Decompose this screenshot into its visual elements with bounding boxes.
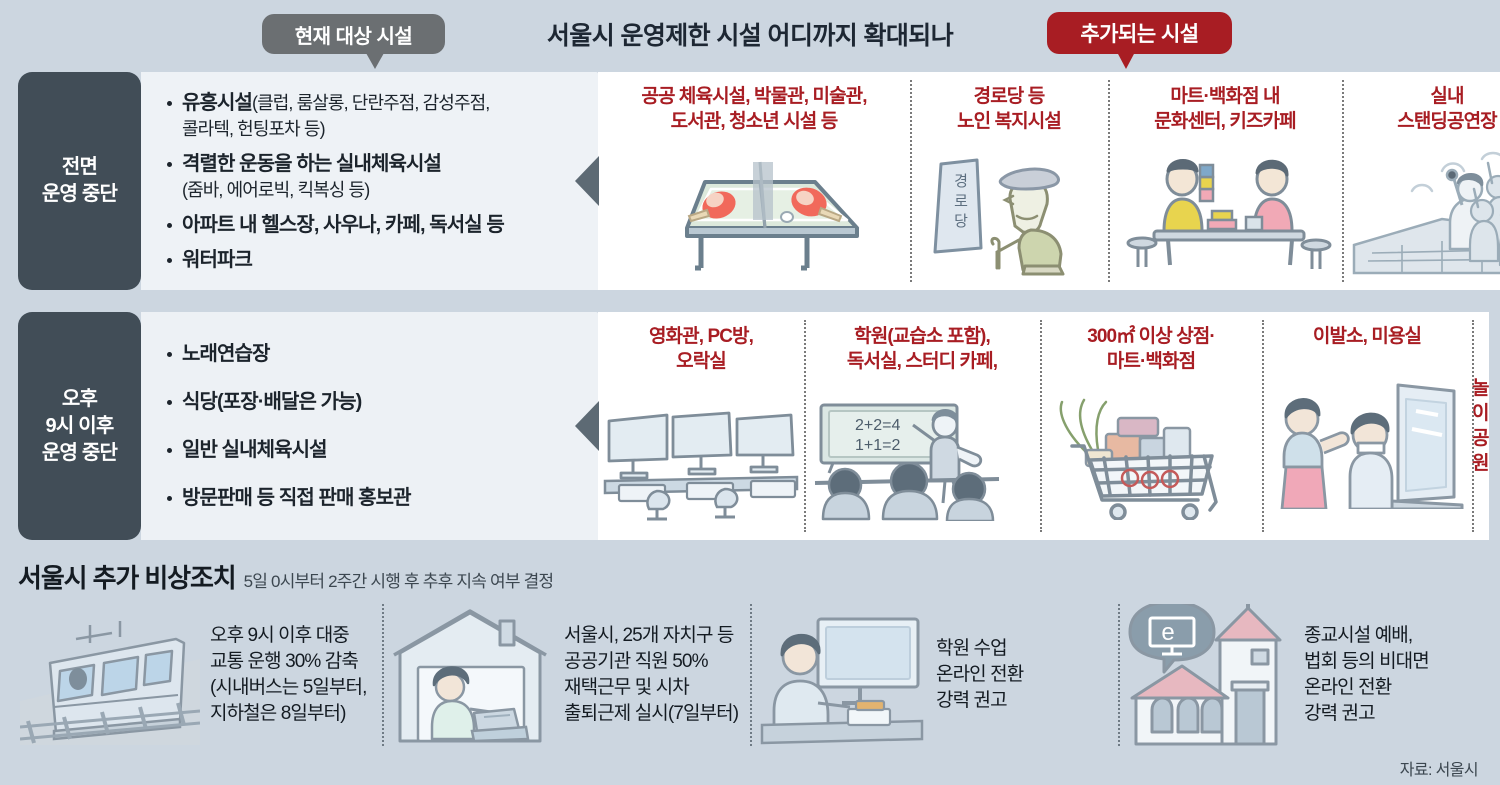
bullet-main: 노래연습장	[182, 343, 270, 365]
badge-tail-icon	[366, 53, 384, 69]
bottom-header: 서울시 추가 비상조치 5일 0시부터 2주간 시행 후 추후 지속 여부 결정	[18, 558, 553, 595]
measure-religion-online: e 종교시설 예배, 법회 등의 비대면 온라인 전환 강력 권고	[1118, 600, 1486, 750]
facility-cell-senior-center: 경로당 등 노인 복지시설 경 로 당	[910, 72, 1108, 290]
infographic-root: 현재 대상 시설 서울시 운영제한 시설 어디까지 확대되나 추가되는 시설 전…	[0, 0, 1500, 785]
blackboard-line2: 1+1=2	[855, 437, 900, 454]
measure-text: 학원 수업 온라인 전환 강력 권고	[936, 636, 1023, 715]
facility-cell-title: 300㎡ 이상 상점· 마트·백화점	[1087, 324, 1215, 374]
list-item: 방문판매 등 직접 판매 홍보관	[167, 485, 592, 511]
row-label-text: 오후 9시 이후 운영 중단	[42, 386, 117, 467]
title-bar: 현재 대상 시설 서울시 운영제한 시설 어디까지 확대되나 추가되는 시설	[0, 0, 1500, 62]
additional-measures-section: 서울시 추가 비상조치 5일 0시부터 2주간 시행 후 추후 지속 여부 결정	[0, 548, 1500, 785]
bullet-main: 유흥시설	[182, 92, 252, 114]
standing-concert-icon	[1342, 134, 1500, 290]
pc-room-icon	[598, 374, 804, 540]
list-item: 워터파크	[167, 247, 592, 273]
classroom-icon: 2+2=4 1+1=2	[804, 374, 1040, 540]
facility-cell-amusement-park: 놀이 공원	[1472, 312, 1489, 540]
facility-cell-public-sports: 공공 체육시설, 박물관, 미술관, 도서관, 청소년 시설 등	[598, 72, 910, 290]
table-tennis-icon	[598, 134, 910, 290]
facility-cell-title: 공공 체육시설, 박물관, 미술관, 도서관, 청소년 시설 등	[641, 84, 866, 134]
list-item: 식당(포장·배달은 가능)	[167, 389, 592, 415]
restriction-row-full-closure: 전면 운영 중단 유흥시설(클럽, 룸살롱, 단란주점, 감성주점, 콜라텍, …	[18, 72, 1484, 290]
bullet-main: 식당(포장·배달은 가능)	[182, 391, 361, 413]
badge-tail-icon	[1117, 52, 1135, 69]
page-title: 서울시 운영제한 시설 어디까지 확대되나	[510, 16, 990, 52]
church-bubble-text: e	[1161, 619, 1174, 646]
badge-current-label: 현재 대상 시설	[295, 20, 413, 49]
row-label-text: 전면 운영 중단	[42, 154, 117, 208]
bottom-subtitle: 5일 0시부터 2주간 시행 후 추후 지속 여부 결정	[244, 567, 554, 592]
list-item: 아파트 내 헬스장, 사우나, 카페, 독서실 등	[167, 212, 592, 238]
source-note: 자료: 서울시	[1400, 756, 1478, 780]
bullet-list-2: 노래연습장 식당(포장·배달은 가능) 일반 실내체육시설 방문판매 등 직접 …	[141, 341, 598, 511]
badge-current-facilities: 현재 대상 시설	[262, 14, 445, 54]
facility-cell-title: 놀이 공원	[1472, 376, 1489, 476]
measures-list: 오후 9시 이후 대중 교통 운행 30% 감축 (시내버스는 5일부터, 지하…	[14, 600, 1486, 750]
svg-text:로: 로	[954, 193, 968, 210]
bottom-title: 서울시 추가 비상조치	[18, 558, 236, 595]
subway-icon	[20, 605, 200, 745]
row-label-full-closure: 전면 운영 중단	[18, 72, 141, 290]
senior-center-icon: 경 로 당	[910, 134, 1108, 290]
facility-cell-standing-concert: 실내 스탠딩공연장	[1342, 72, 1500, 290]
bullet-main: 일반 실내체육시설	[182, 439, 327, 461]
measure-remote-work: 서울시, 25개 자치구 등 공공기관 직원 50% 재택근무 및 시차 출퇴근…	[382, 600, 750, 750]
restriction-row-after-9pm: 오후 9시 이후 운영 중단 노래연습장 식당(포장·배달은 가능) 일반 실내…	[18, 312, 1484, 540]
svg-text:당: 당	[954, 213, 968, 230]
badge-added-facilities: 추가되는 시설	[1047, 12, 1232, 54]
shopping-cart-icon	[1040, 374, 1262, 540]
facility-cell-title: 영화관, PC방, 오락실	[649, 324, 753, 374]
bullet-main: 방문판매 등 직접 판매 홍보관	[182, 487, 411, 509]
bullet-main: 격렬한 운동을 하는 실내체육시설	[182, 153, 441, 175]
arrow-right-icon	[575, 156, 599, 206]
hair-salon-icon	[1262, 349, 1472, 540]
list-item: 노래연습장	[167, 341, 592, 367]
bullet-list-1: 유흥시설(클럽, 룸살롱, 단란주점, 감성주점, 콜라텍, 헌팅포차 등) 격…	[141, 90, 598, 273]
home-work-icon	[388, 605, 554, 745]
facility-cell-academy: 학원(교습소 포함), 독서실, 스터디 카페, 2+2=4 1+1=2	[804, 312, 1040, 540]
church-icon: e	[1124, 604, 1294, 746]
row-label-after-9pm: 오후 9시 이후 운영 중단	[18, 312, 141, 540]
measure-public-transport: 오후 9시 이후 대중 교통 운행 30% 감축 (시내버스는 5일부터, 지하…	[14, 600, 382, 750]
facility-cell-hair-salon: 이발소, 미용실	[1262, 312, 1472, 540]
bullet-sub: (줌바, 에어로빅, 킥복싱 등)	[182, 180, 369, 200]
bullet-main: 워터파크	[182, 249, 252, 271]
measure-text: 오후 9시 이후 대중 교통 운행 30% 감축 (시내버스는 5일부터, 지하…	[210, 623, 367, 728]
measure-online-class: 학원 수업 온라인 전환 강력 권고	[750, 600, 1118, 750]
senior-sign-text: 경	[954, 173, 968, 190]
kids-cafe-icon	[1108, 134, 1342, 290]
measure-text: 종교시설 예배, 법회 등의 비대면 온라인 전환 강력 권고	[1304, 623, 1429, 728]
list-item: 유흥시설(클럽, 룸살롱, 단란주점, 감성주점, 콜라텍, 헌팅포차 등)	[167, 90, 592, 142]
row-added-facilities-2: 영화관, PC방, 오락실	[598, 312, 1489, 540]
row-current-facilities-1: 유흥시설(클럽, 룸살롱, 단란주점, 감성주점, 콜라텍, 헌팅포차 등) 격…	[141, 72, 598, 290]
facility-cell-title: 이발소, 미용실	[1313, 324, 1421, 349]
list-item: 격렬한 운동을 하는 실내체육시설(줌바, 에어로빅, 킥복싱 등)	[167, 151, 592, 203]
list-item: 일반 실내체육시설	[167, 437, 592, 463]
facility-cell-title: 경로당 등 노인 복지시설	[957, 84, 1061, 134]
row-current-facilities-2: 노래연습장 식당(포장·배달은 가능) 일반 실내체육시설 방문판매 등 직접 …	[141, 312, 598, 540]
facility-cell-pc-room: 영화관, PC방, 오락실	[598, 312, 804, 540]
facility-cell-kids-cafe: 마트·백화점 내 문화센터, 키즈카페	[1108, 72, 1342, 290]
blackboard-line1: 2+2=4	[855, 417, 900, 434]
measure-text: 서울시, 25개 자치구 등 공공기관 직원 50% 재택근무 및 시차 출퇴근…	[564, 623, 738, 728]
facility-cell-title: 실내 스탠딩공연장	[1397, 84, 1496, 134]
facility-cell-title: 학원(교습소 포함), 독서실, 스터디 카페,	[847, 324, 997, 374]
facility-cell-title: 마트·백화점 내 문화센터, 키즈카페	[1154, 84, 1295, 134]
bullet-main: 아파트 내 헬스장, 사우나, 카페, 독서실 등	[182, 214, 504, 236]
online-class-icon	[756, 605, 926, 745]
arrow-right-icon	[575, 401, 599, 451]
facility-cell-mart: 300㎡ 이상 상점· 마트·백화점	[1040, 312, 1262, 540]
badge-added-label: 추가되는 시설	[1080, 18, 1198, 48]
row-added-facilities-1: 공공 체육시설, 박물관, 미술관, 도서관, 청소년 시설 등	[598, 72, 1500, 290]
